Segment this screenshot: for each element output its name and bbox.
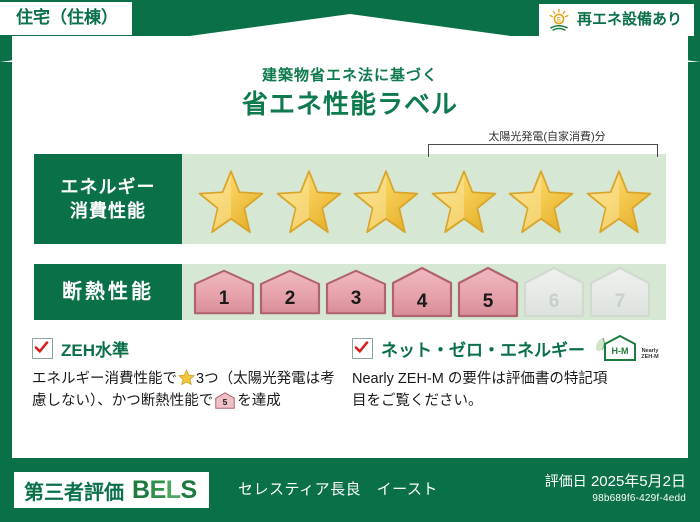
zeh-body-text-2: 3つ（太陽光発電 bbox=[196, 371, 306, 387]
net-zero-body-line1: Nearly ZEH-M の要件は評価書の特記項 bbox=[352, 369, 664, 391]
main-panel: 建築物省エネ法に基づく 省エネ性能ラベル エネルギー 消費性能 太陽光発電(自家… bbox=[12, 36, 688, 458]
energy-row-body: 太陽光発電(自家消費)分 bbox=[182, 154, 666, 244]
zeh-m-logo: H-M Nearly ZEH-M bbox=[592, 332, 668, 366]
insulation-level-number: 4 bbox=[390, 291, 454, 313]
renewable-equipment-badge: E 再エネ設備あり bbox=[539, 4, 694, 36]
inline-house-value: 5 bbox=[223, 397, 228, 407]
insulation-row-body: 1234567 bbox=[182, 264, 666, 320]
zeh-standard-body: エネルギー消費性能で3つ（太陽光発電は考慮しない）、かつ断熱性能で5を達成 bbox=[32, 369, 344, 413]
inline-star-icon bbox=[178, 369, 195, 386]
solar-bracket bbox=[428, 144, 658, 157]
insulation-level-number: 6 bbox=[522, 291, 586, 313]
footer-band: 第三者評価 BELS セレスティア長良 イースト 評価日 2025年5月2日 9… bbox=[0, 462, 700, 522]
solar-note-label: 太陽光発電(自家消費)分 bbox=[438, 128, 656, 144]
check-icon bbox=[34, 340, 49, 355]
building-type-tag: 住宅（住棟） bbox=[0, 2, 132, 35]
net-zero-title: ネット・ゼロ・エネルギー bbox=[381, 336, 585, 361]
insulation-level-number: 2 bbox=[258, 288, 322, 310]
bels-logo: 第三者評価 BELS bbox=[14, 472, 209, 508]
net-zero-body-line2: 目をご覧ください。 bbox=[352, 391, 664, 413]
zeh-standard-column: ZEH水準 エネルギー消費性能で3つ（太陽光発電は考慮しない）、かつ断熱性能で5… bbox=[32, 336, 352, 444]
star-icon bbox=[584, 167, 654, 237]
insulation-level-number: 3 bbox=[324, 288, 388, 310]
criteria-columns: ZEH水準 エネルギー消費性能で3つ（太陽光発電は考慮しない）、かつ断熱性能で5… bbox=[32, 336, 672, 444]
star-icon bbox=[351, 167, 421, 237]
zeh-standard-checkbox bbox=[32, 338, 53, 359]
insulation-level-2: 2 bbox=[258, 269, 322, 315]
energy-label-line1: エネルギー bbox=[61, 175, 156, 199]
insulation-level-1: 1 bbox=[192, 269, 256, 315]
insulation-level-4: 4 bbox=[390, 266, 454, 318]
check-icon bbox=[354, 340, 369, 355]
building-name: セレスティア長良 イースト bbox=[238, 478, 438, 499]
energy-row-label: エネルギー 消費性能 bbox=[34, 154, 182, 244]
inline-house-icon: 5 bbox=[215, 392, 235, 409]
evaluation-date-value: 2025年5月2日 bbox=[591, 473, 686, 490]
insulation-level-5: 5 bbox=[456, 266, 520, 318]
insulation-level-scale: 1234567 bbox=[182, 264, 666, 320]
insulation-level-7: 7 bbox=[588, 266, 652, 318]
insulation-level-number: 5 bbox=[456, 291, 520, 313]
insulation-level-number: 7 bbox=[588, 291, 652, 313]
net-zero-energy-column: ネット・ゼロ・エネルギー H-M Nearly ZEH-M Nearly ZEH… bbox=[352, 336, 672, 444]
bels-energy-label: 住宅（住棟） E 再エネ設備あり 建築物省エネ法に基づく 省エネ性能ラベル bbox=[0, 0, 700, 522]
solar-sun-icon: E bbox=[547, 8, 571, 32]
evaluation-info: 評価日 2025年5月2日 98b689f6-429f-4edd bbox=[545, 470, 686, 504]
bels-wordmark: BELS bbox=[132, 478, 197, 503]
insulation-level-6: 6 bbox=[522, 266, 586, 318]
zeh-standard-heading: ZEH水準 bbox=[32, 336, 344, 361]
subtitle: 建築物省エネ法に基づく bbox=[12, 64, 688, 85]
star-icon bbox=[506, 167, 576, 237]
svg-text:E: E bbox=[557, 18, 561, 24]
zeh-standard-title: ZEH水準 bbox=[61, 336, 129, 361]
zeh-m-caption-2: ZEH-M bbox=[641, 354, 659, 360]
net-zero-body: Nearly ZEH-M の要件は評価書の特記項 目をご覧ください。 bbox=[352, 369, 664, 413]
star-rating bbox=[190, 162, 660, 242]
energy-label-line2: 消費性能 bbox=[70, 199, 146, 223]
page-title: 省エネ性能ラベル bbox=[12, 84, 688, 121]
evaluation-date-line: 評価日 2025年5月2日 bbox=[545, 470, 686, 491]
evaluation-uid: 98b689f6-429f-4edd bbox=[545, 493, 686, 504]
zeh-body-text-1: エネルギー消費性能で bbox=[32, 371, 177, 387]
third-party-eval-label: 第三者評価 bbox=[24, 476, 124, 505]
star-icon bbox=[429, 167, 499, 237]
insulation-row-label: 断熱性能 bbox=[34, 264, 182, 320]
zeh-m-logo-text: H-M bbox=[612, 346, 629, 356]
star-icon bbox=[274, 167, 344, 237]
renewable-badge-label: 再エネ設備あり bbox=[577, 12, 682, 29]
zeh-body-text-4: を達成 bbox=[237, 393, 281, 409]
star-icon bbox=[196, 167, 266, 237]
insulation-performance-row: 断熱性能 1234567 bbox=[34, 264, 666, 320]
energy-performance-row: エネルギー 消費性能 太陽光発電(自家消費)分 bbox=[34, 154, 666, 244]
net-zero-checkbox bbox=[352, 338, 373, 359]
insulation-level-3: 3 bbox=[324, 269, 388, 315]
evaluation-date-label: 評価日 bbox=[545, 473, 587, 489]
insulation-level-number: 1 bbox=[192, 288, 256, 310]
